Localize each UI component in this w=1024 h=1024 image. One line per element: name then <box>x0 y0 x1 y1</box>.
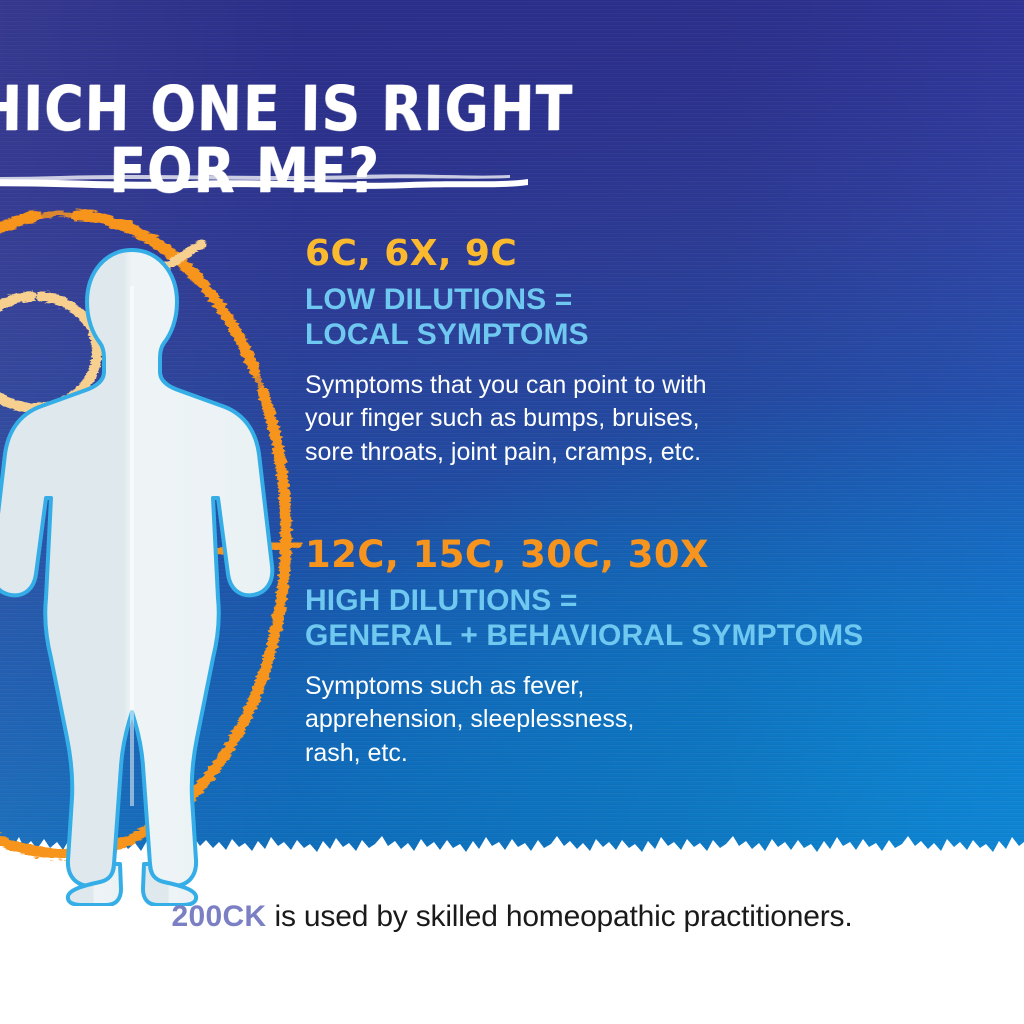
human-silhouette-icon <box>0 246 302 906</box>
body-high-line-3: rash, etc. <box>305 737 863 771</box>
body-high-line-2: apprehension, sleeplessness, <box>305 703 863 737</box>
body-high-line-1: Symptoms such as fever, <box>305 670 863 704</box>
subhead-low: LOW DILUTIONS = LOCAL SYMPTOMS <box>305 282 707 353</box>
subhead-low-line-1: LOW DILUTIONS = <box>305 282 707 317</box>
body-low-line-2: your finger such as bumps, bruises, <box>305 402 707 436</box>
body-low-line-3: sore throats, joint pain, cramps, etc. <box>305 436 707 470</box>
body-low-line-1: Symptoms that you can point to with <box>305 369 707 403</box>
content-column: 6C, 6X, 9C LOW DILUTIONS = LOCAL SYMPTOM… <box>305 0 1005 866</box>
dose-label-high: 12C, 15C, 30C, 30X <box>305 536 863 574</box>
footer-rest-text: is used by skilled homeopathic practitio… <box>266 900 852 933</box>
infographic-poster: WHICH ONE IS RIGHT FOR ME? 6C, 6X, 9C LO… <box>0 0 1024 1024</box>
dose-label-low: 6C, 6X, 9C <box>305 236 707 273</box>
subhead-high: HIGH DILUTIONS = GENERAL + BEHAVIORAL SY… <box>305 583 863 654</box>
body-low: Symptoms that you can point to with your… <box>305 369 707 470</box>
dilution-block-low: 6C, 6X, 9C LOW DILUTIONS = LOCAL SYMPTOM… <box>305 236 707 469</box>
subhead-high-line-2: GENERAL + BEHAVIORAL SYMPTOMS <box>305 618 863 653</box>
dilution-block-high: 12C, 15C, 30C, 30X HIGH DILUTIONS = GENE… <box>305 536 863 770</box>
body-high: Symptoms such as fever, apprehension, sl… <box>305 670 863 771</box>
footer-highlight-200ck: 200CK <box>172 900 267 933</box>
human-silhouette-graphic <box>0 246 302 906</box>
subhead-low-line-2: LOCAL SYMPTOMS <box>305 317 707 352</box>
subhead-high-line-1: HIGH DILUTIONS = <box>305 583 863 618</box>
footer-note: 200CK is used by skilled homeopathic pra… <box>0 900 1024 934</box>
